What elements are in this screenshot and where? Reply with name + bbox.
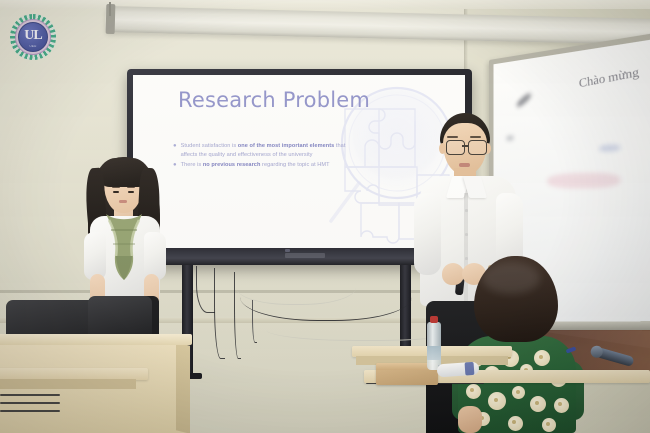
whiteboard-smudge-c	[547, 172, 620, 189]
display-cable-b	[214, 268, 225, 359]
whiteboard-marker-smudge	[516, 92, 533, 109]
ceiling-edge	[0, 0, 650, 9]
bottle-label	[427, 346, 441, 360]
front-left-desk-edge	[0, 379, 136, 389]
student-left-eye-r	[128, 191, 134, 193]
slide-bullet-list: ● Student satisfaction is one of the mos…	[173, 142, 353, 172]
presenter-mouth	[459, 163, 470, 167]
presenter-shirt-button	[465, 233, 468, 236]
logo-subtext: UEH	[30, 44, 37, 48]
presenter-brow-r	[470, 136, 481, 138]
student-left-mouth	[119, 200, 127, 203]
student-left-sleeve-right	[144, 232, 166, 280]
student-left-eye-l	[113, 191, 119, 193]
presenter-ear-left	[439, 143, 446, 154]
roller-bracket-left	[109, 2, 111, 16]
presenter-arm-left	[414, 193, 441, 275]
display-cable-g	[252, 300, 257, 343]
presenter-glasses-right-lens-icon	[468, 140, 487, 155]
front-left-desk-rail	[0, 394, 60, 396]
water-bottle[interactable]	[427, 322, 441, 370]
display-ir-sensor-icon	[285, 249, 290, 252]
front-left-desk	[0, 368, 148, 433]
logo-monogram: UL	[24, 29, 41, 43]
presenter-glasses-bridge	[462, 145, 468, 147]
slide-bullet-text: There is no previous research regarding …	[181, 161, 330, 170]
slide-bullet-item: ● There is no previous research regardin…	[173, 161, 353, 170]
university-logo-icon: UL UEH	[10, 14, 56, 60]
presenter-brow-l	[447, 136, 458, 138]
whiteboard-smudge-d	[599, 144, 620, 152]
slide-title: Research Problem	[178, 88, 370, 112]
display-cable-d	[240, 268, 412, 321]
attendee-hair-highlight	[482, 262, 540, 294]
slide-bullet-text: Student satisfaction is one of the most …	[181, 142, 353, 159]
front-left-desk-rail	[0, 410, 60, 412]
podium-side-panel	[176, 342, 190, 433]
logo-disc: UL UEH	[18, 22, 48, 52]
podium-top	[0, 334, 192, 345]
whiteboard-handwriting: Chào mừng	[579, 65, 640, 90]
bottle-cap	[430, 316, 438, 323]
student-left-scarf	[103, 212, 145, 282]
display-cable-e	[234, 272, 241, 359]
front-left-desk-rail	[0, 402, 60, 404]
classroom-presentation-photo: UL UEH Chào mừng	[0, 0, 650, 433]
slide-bullet-item: ● Student satisfaction is one of the mos…	[173, 142, 353, 159]
presenter-glasses-left-lens-icon	[446, 140, 465, 155]
display-brand-mark	[285, 253, 325, 258]
presenter-shirt-button	[465, 209, 468, 212]
paper-band	[465, 362, 475, 376]
